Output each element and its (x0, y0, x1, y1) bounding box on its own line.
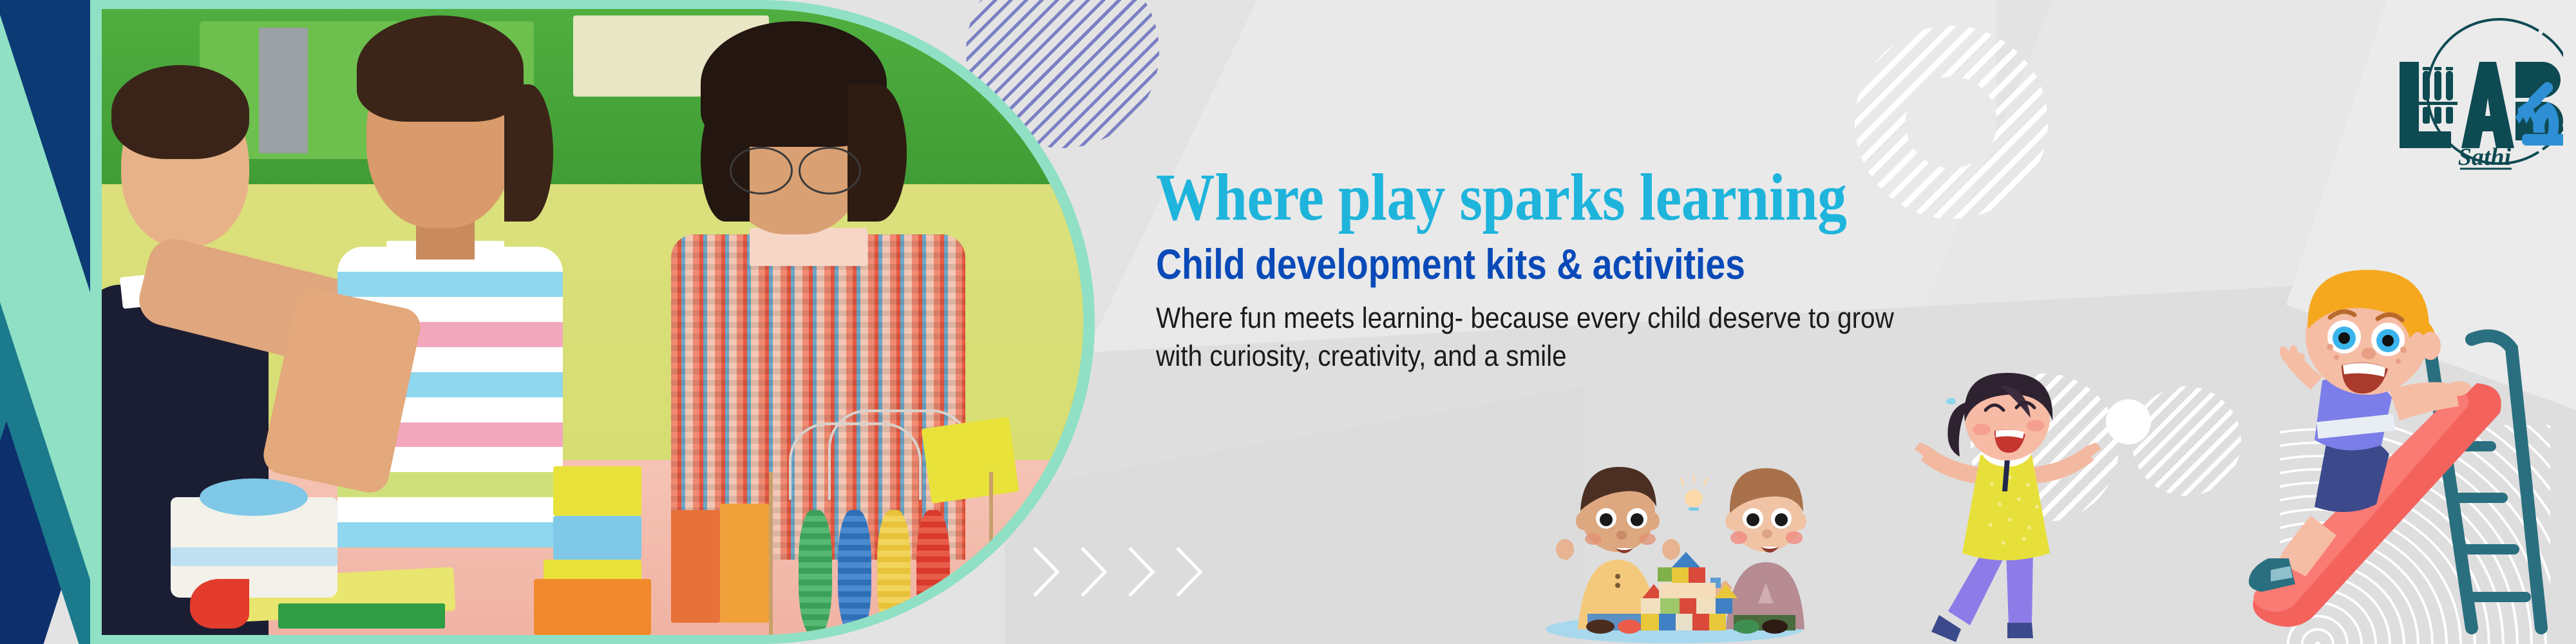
happy-girl-illustration (1909, 370, 2103, 644)
two-kids-building-blocks-illustration (1539, 454, 1810, 644)
chevron-right-icon (1173, 544, 1204, 600)
slide-ladder (2430, 336, 2541, 628)
promotional-banner: Where play sparks learning Child develop… (0, 0, 2576, 644)
page-title: Where play sparks learning (1156, 164, 2074, 231)
logo-tagline: Sathi (2458, 144, 2512, 171)
hero-photo-frame (90, 0, 1095, 644)
background-facet (1005, 386, 1584, 644)
lab-sathi-logo[interactable]: Sathi (2389, 12, 2563, 173)
boy-on-slide-illustration (2145, 267, 2576, 644)
logo-letter-a (2461, 62, 2514, 148)
subtitle: Child development kits & activities (1156, 243, 2032, 285)
wooden-blocks (1641, 552, 1738, 630)
body-copy: Where fun meets learning- because every … (1156, 299, 2060, 375)
lightbulb-icon (1681, 476, 1707, 511)
test-tube-rack-icon (2419, 67, 2458, 124)
chevron-right-icon (1078, 544, 1109, 600)
body-copy-line-1: Where fun meets learning- because every … (1156, 299, 2060, 337)
hero-photo (102, 9, 1083, 635)
chevron-right-icon (1126, 544, 1157, 600)
chevron-arrow-group (1030, 544, 1204, 600)
marketing-copy-block: Where play sparks learning Child develop… (1156, 164, 2199, 375)
chevron-right-icon (1030, 544, 1061, 600)
body-copy-line-2: with curiosity, creativity, and a smile (1156, 337, 2060, 375)
